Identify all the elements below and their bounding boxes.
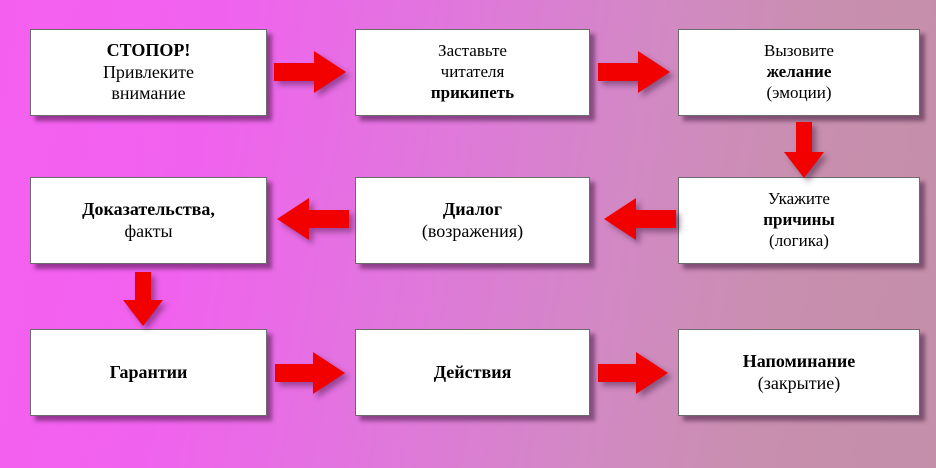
flow-box-line: желание: [767, 62, 832, 83]
arrow-right-icon-actions-to-reminder: [598, 350, 668, 396]
flow-box-actions[interactable]: Действия: [355, 329, 590, 416]
flow-box-line: Диалог: [443, 199, 502, 221]
flow-box-reasons[interactable]: Укажите причины (логика): [678, 177, 920, 264]
arrow-left-icon-dialog-to-proofs: [277, 196, 349, 242]
arrow-left-icon-reasons-to-dialog: [604, 196, 676, 242]
arrow-down-icon-desire-to-reasons: [782, 122, 826, 178]
flow-box-line: СТОПОР!: [107, 40, 191, 62]
flow-box-dialog[interactable]: Диалог (возражения): [355, 177, 590, 264]
flow-box-stopper[interactable]: СТОПОР! Привлеките внимание: [30, 29, 267, 116]
flow-box-line: Гарантии: [110, 362, 188, 384]
flow-box-line: читателя: [441, 62, 505, 83]
flow-box-line: Привлеките: [103, 62, 194, 84]
arrow-right-icon-stopper-to-hook: [274, 49, 346, 95]
flow-box-line: факты: [124, 221, 172, 243]
flow-box-line: (логика): [769, 231, 829, 252]
flow-box-line: Доказательства,: [82, 199, 215, 221]
flow-box-desire[interactable]: Вызовите желание (эмоции): [678, 29, 920, 116]
flow-box-line: (эмоции): [766, 83, 831, 104]
flow-box-line: (возражения): [422, 221, 523, 243]
flow-box-line: (закрытие): [758, 373, 840, 395]
flow-box-line: Укажите: [768, 189, 830, 210]
diagram-canvas: СТОПОР! Привлеките внимание Заставьте чи…: [0, 0, 936, 468]
flow-box-line: Вызовите: [764, 41, 834, 62]
flow-box-guarantees[interactable]: Гарантии: [30, 329, 267, 416]
arrow-right-icon-hook-to-desire: [598, 49, 670, 95]
arrow-down-icon-proofs-to-guarantees: [121, 272, 165, 326]
flow-box-line: Заставьте: [438, 41, 507, 62]
flow-box-reminder[interactable]: Напоминание (закрытие): [678, 329, 920, 416]
flow-box-line: Напоминание: [743, 351, 856, 373]
flow-box-hook-reader[interactable]: Заставьте читателя прикипеть: [355, 29, 590, 116]
flow-box-line: Действия: [434, 362, 512, 384]
flow-box-line: причины: [763, 210, 835, 231]
flow-box-line: внимание: [111, 83, 185, 105]
flow-box-proofs[interactable]: Доказательства, факты: [30, 177, 267, 264]
flow-box-line: прикипеть: [431, 83, 514, 104]
arrow-right-icon-guarantees-to-actions: [275, 350, 345, 396]
